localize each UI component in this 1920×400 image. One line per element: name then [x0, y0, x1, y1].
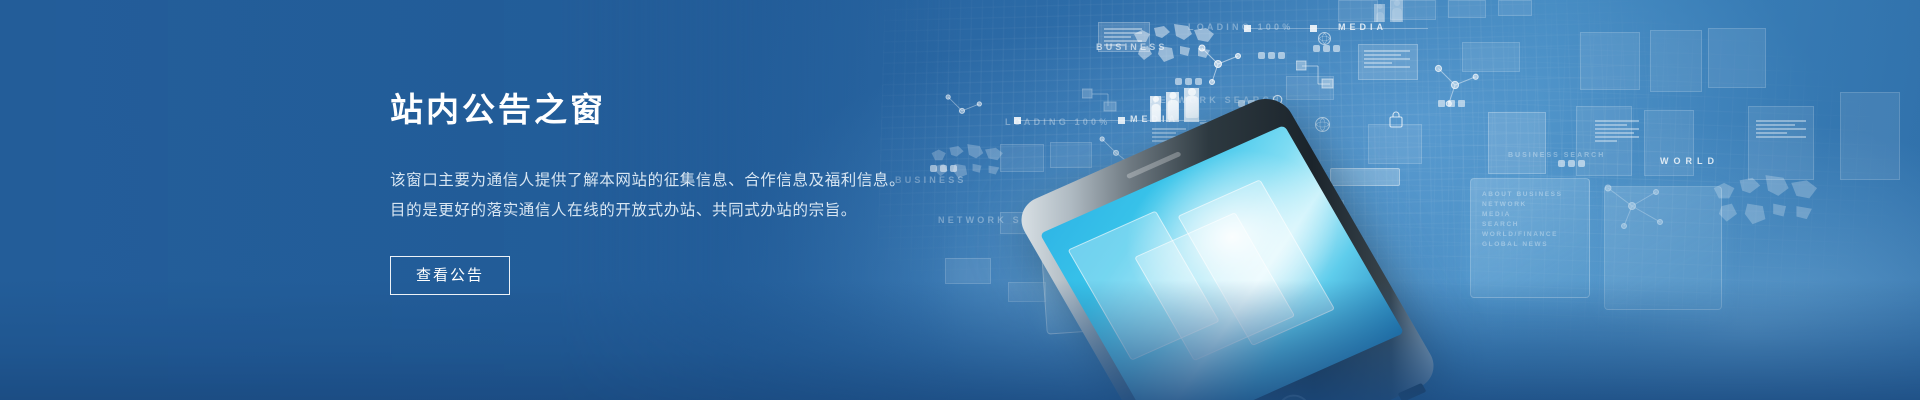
page-title: 站内公告之窗 — [390, 92, 1030, 128]
bottom-fade — [0, 280, 1920, 400]
description-line-1: 该窗口主要为通信人提供了解本网站的征集信息、合作信息及福利信息。 — [390, 166, 1030, 196]
banner-description: 该窗口主要为通信人提供了解本网站的征集信息、合作信息及福利信息。 目的是更好的落… — [390, 166, 1030, 226]
view-announcements-button[interactable]: 查看公告 — [390, 256, 510, 295]
announcement-banner: BUSINESS NETWORK SEARCH LOADING 100% MED… — [0, 0, 1920, 400]
description-line-2: 目的是更好的落实通信人在线的开放式办站、共同式办站的宗旨。 — [390, 196, 1030, 226]
banner-content: 站内公告之窗 该窗口主要为通信人提供了解本网站的征集信息、合作信息及福利信息。 … — [390, 92, 1030, 295]
